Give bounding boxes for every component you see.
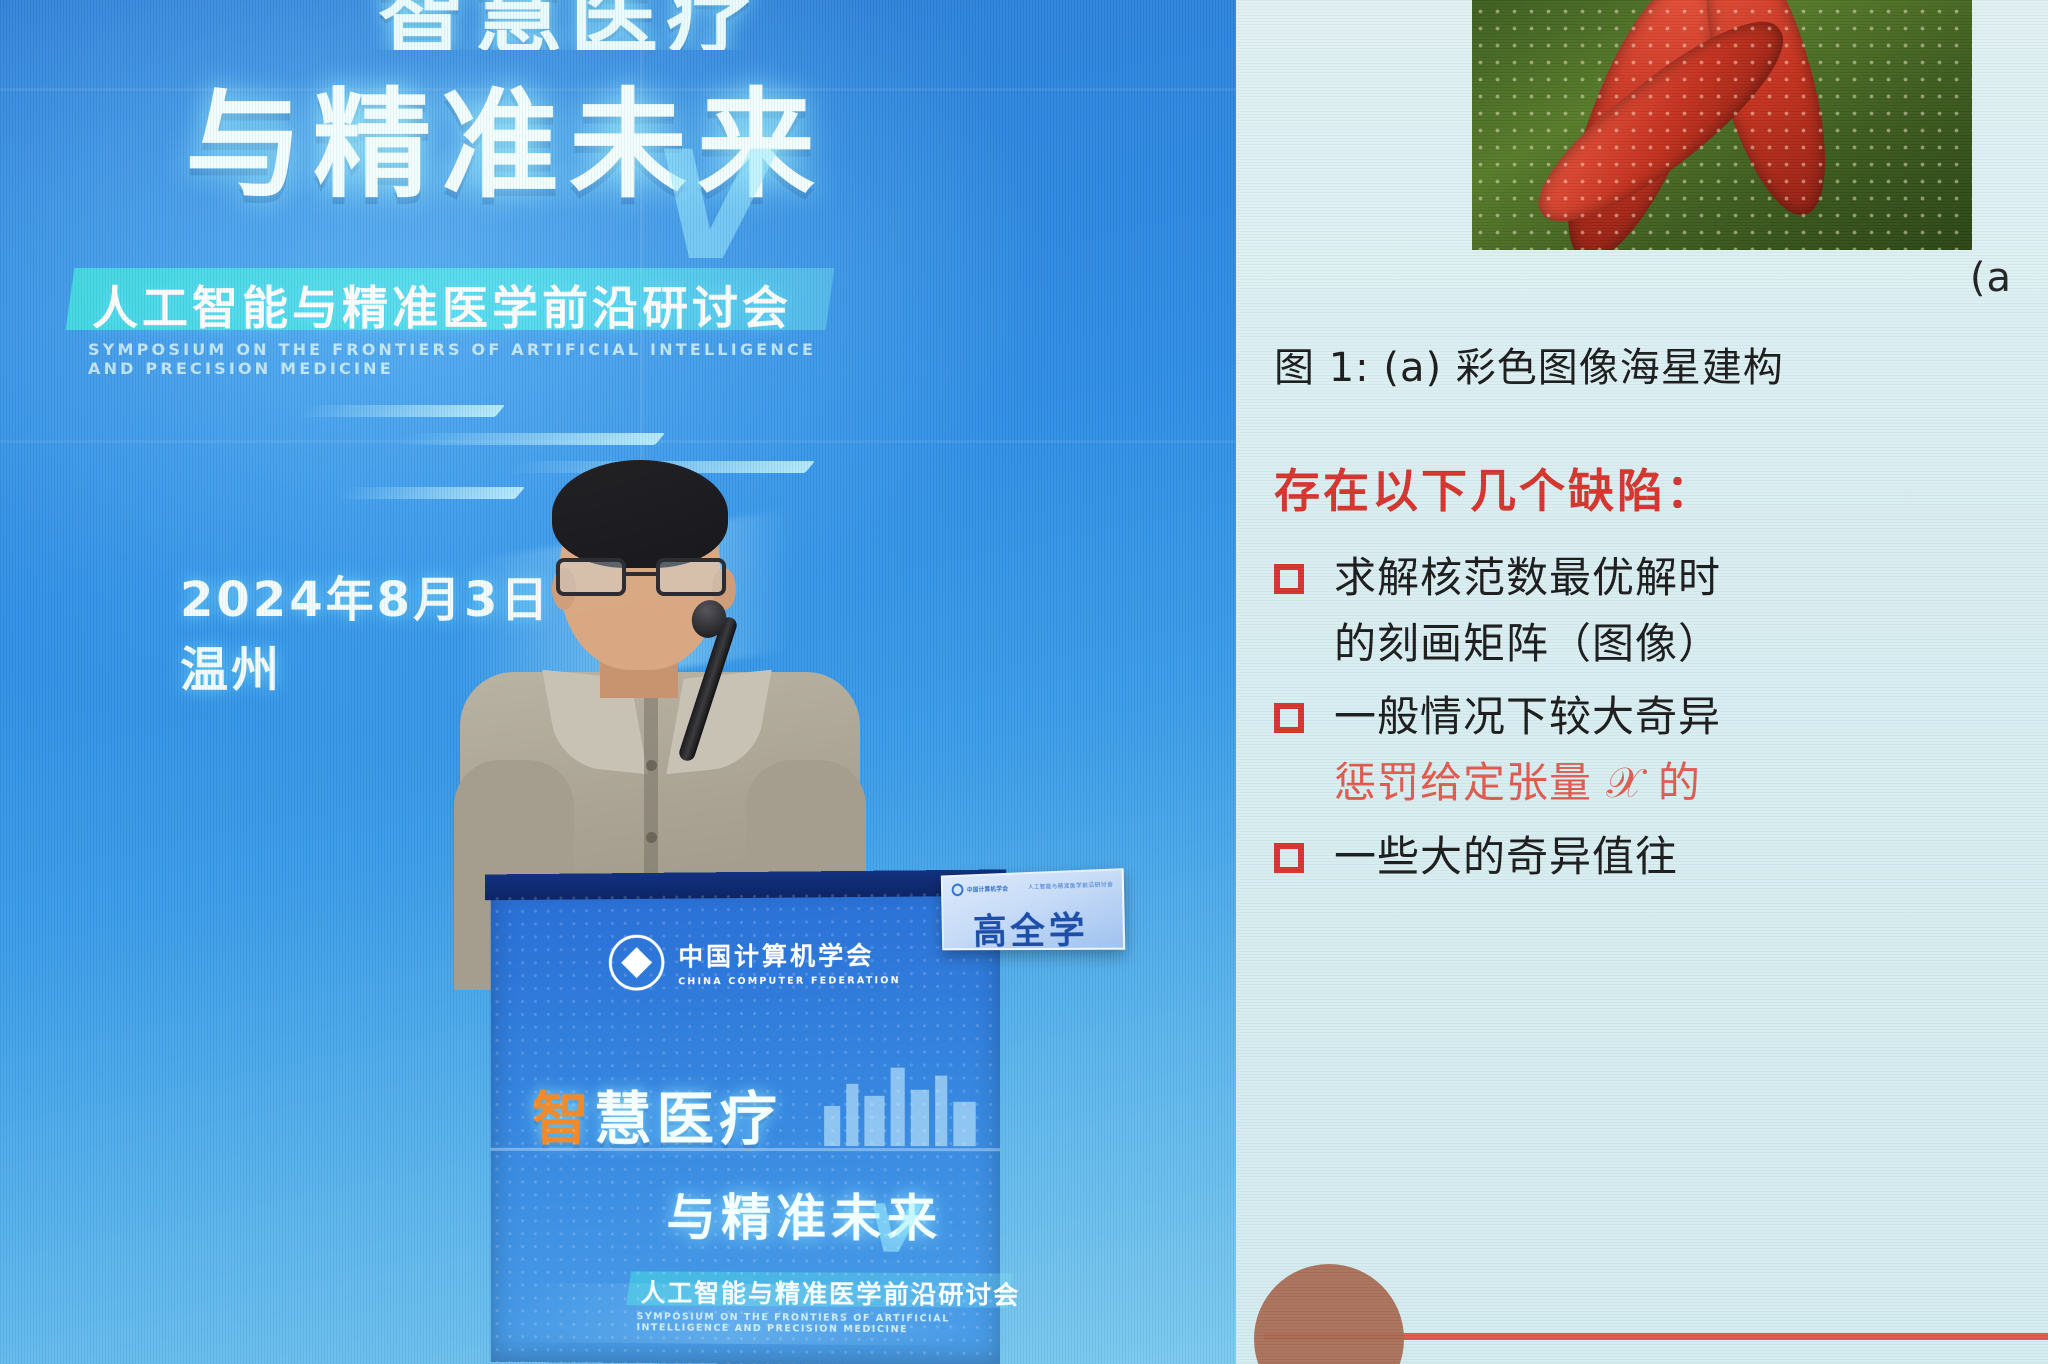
podium-v-mark: V	[863, 1190, 926, 1268]
defect-bullet-list: 求解核范数最优解时 的刻画矩阵（图像） 一般情况下较大奇异 惩罚给定张量 𝒳 的…	[1256, 548, 2048, 892]
starfish-photo	[1472, 0, 1972, 250]
bullet-text-line2: 的刻画矩阵（图像）	[1334, 614, 2048, 674]
led-panel-seam	[0, 88, 1236, 91]
bullet-text-line2: 惩罚给定张量 𝒳 的	[1334, 753, 2048, 813]
placard-event-caption: 人工智能与精准医学前沿研讨会	[1028, 880, 1114, 891]
podium-title-accent-char: 智	[532, 1085, 594, 1153]
ccf-logo: 中国计算机学会 CHINA COMPUTER FEDERATION	[609, 933, 901, 991]
backdrop-main-title: 与精准未来	[185, 78, 885, 214]
podium-title-rest: 慧医疗	[594, 1085, 782, 1153]
figure-subcaption: (a	[1970, 255, 2012, 301]
list-item: 一些大的奇异值往	[1256, 827, 2048, 887]
bullet-text-line1: 一些大的奇异值往	[1334, 827, 1678, 887]
podium-divider-line	[491, 1148, 1000, 1151]
backdrop-top-title: 智慧医疗	[60, 0, 1080, 50]
list-item: 求解核范数最优解时	[1256, 548, 2048, 608]
shirt-button	[646, 832, 657, 843]
led-panel-seam	[0, 440, 1236, 443]
speaker-name: 高全学	[943, 900, 1123, 951]
podium-top-edge	[485, 869, 1006, 900]
skyline-decoration	[820, 1059, 982, 1146]
slide-red-underline	[1264, 1333, 2048, 1340]
ccf-name-cn: 中国计算机学会	[678, 936, 901, 973]
ccf-name-en: CHINA COMPUTER FEDERATION	[678, 975, 901, 987]
defect-heading: 存在以下几个缺陷：	[1274, 455, 2048, 521]
audience-head-silhouette	[1254, 1264, 1404, 1364]
shirt-button	[646, 760, 657, 771]
projected-slide: (a 图 1: (a) 彩色图像海星建构 存在以下几个缺陷： 求解核范数最优解时…	[1236, 0, 2048, 1364]
podium-title: 智慧医疗	[532, 1072, 962, 1157]
podium: 中国计算机学会 CHINA COMPUTER FEDERATION 智慧医疗 与…	[491, 888, 1000, 1364]
figure-caption-line: 图 1: (a) 彩色图像海星建构	[1274, 335, 2048, 393]
backdrop-v-mark: V	[643, 120, 784, 294]
backdrop-subtitle-en: SYMPOSIUM ON THE FRONTIERS OF ARTIFICIAL…	[88, 340, 848, 378]
podium-subtitle-en: SYMPOSIUM ON THE FRONTIERS OF ARTIFICIAL…	[637, 1311, 1039, 1336]
podium-light-streak	[493, 1283, 997, 1346]
bullet-text-line1: 一般情况下较大奇异	[1334, 687, 1721, 747]
podium-subtitle-cn: 人工智能与精准医学前沿研讨会	[641, 1273, 1023, 1311]
list-item: 一般情况下较大奇异	[1256, 687, 2048, 747]
backdrop-subtitle-band	[66, 268, 835, 330]
name-placard: 中国计算机学会 人工智能与精准医学前沿研讨会 高全学	[941, 868, 1126, 950]
square-bullet-icon	[1274, 703, 1304, 733]
placard-logo-icon	[952, 883, 964, 896]
square-bullet-icon	[1274, 564, 1304, 594]
podium-subtitle-main: 与精准未来	[666, 1178, 1039, 1252]
conference-photo-scene: 智慧医疗 与精准未来 V 人工智能与精准医学前沿研讨会 SYMPOSIUM ON…	[0, 0, 2048, 1364]
speaker-hair	[552, 460, 728, 568]
podium-subtitle-band	[626, 1271, 1012, 1307]
ccf-emblem-icon	[609, 935, 664, 991]
bullet-text-line1: 求解核范数最优解时	[1334, 548, 1721, 608]
square-bullet-icon	[1274, 843, 1304, 873]
glasses-icon	[556, 558, 726, 598]
placard-logo: 中国计算机学会	[952, 882, 1009, 897]
placard-logo-caption: 中国计算机学会	[967, 884, 1009, 894]
backdrop-subtitle-cn: 人工智能与精准医学前沿研讨会	[92, 272, 832, 338]
